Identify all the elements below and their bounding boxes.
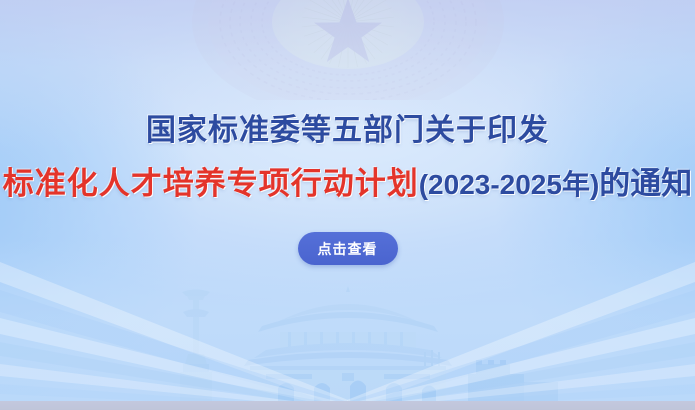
banner-title-line-1: 国家标准委等五部门关于印发: [146, 116, 549, 146]
notice-suffix-text: 的通知: [599, 166, 692, 201]
banner-content: 国家标准委等五部门关于印发 标准化人才培养专项行动计划(2023-2025年)的…: [0, 0, 695, 410]
view-detail-button[interactable]: 点击查看: [298, 232, 398, 265]
policy-banner: 国家标准委等五部门关于印发 标准化人才培养专项行动计划(2023-2025年)的…: [0, 0, 695, 410]
banner-title-line-2: 标准化人才培养专项行动计划(2023-2025年)的通知: [3, 168, 693, 199]
plan-name-text: 标准化人才培养专项行动计划: [3, 166, 419, 201]
plan-period-text: (2023-2025年): [419, 169, 600, 200]
